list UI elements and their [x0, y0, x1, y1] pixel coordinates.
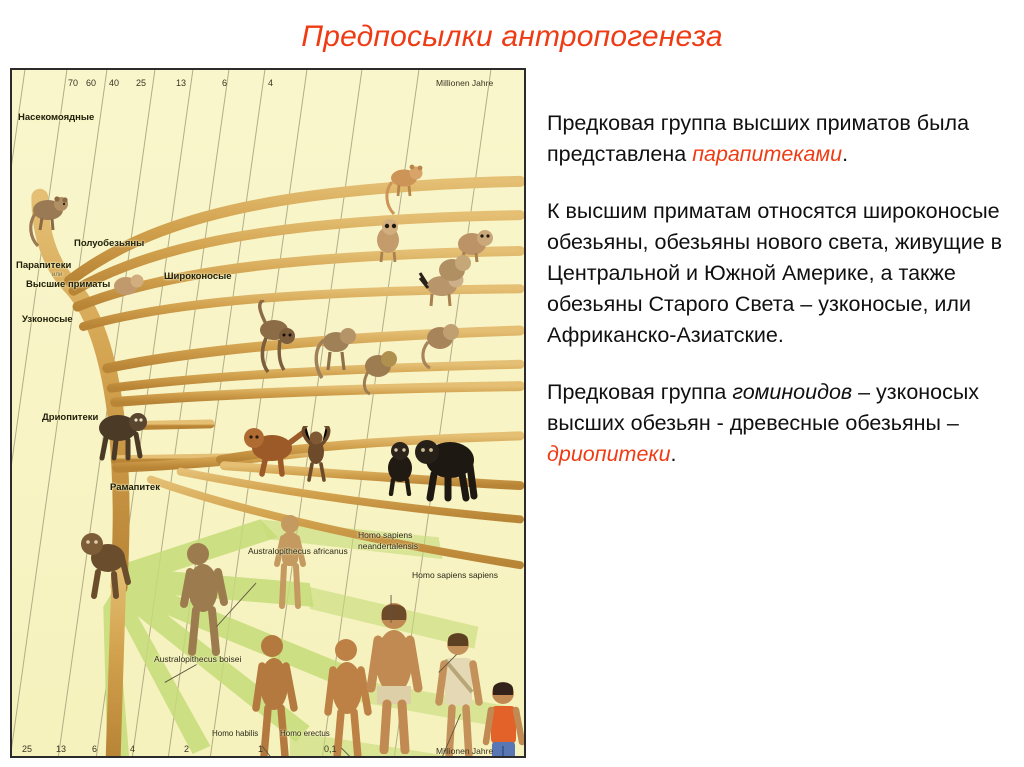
bottom-scale-0-1: 0,1 [324, 744, 337, 754]
label-platyrrhines: Широконосые [164, 271, 232, 282]
label-parapithecus: Парапитеки [16, 260, 71, 271]
label-dryopithecus: Дриопитеки [42, 412, 98, 423]
bottom-scale-25: 25 [22, 744, 32, 754]
paragraph-1: Предковая группа высших приматов была пр… [547, 108, 1013, 170]
term-hominoids: гоминоидов [732, 380, 852, 404]
top-scale-13: 13 [176, 78, 186, 88]
bottom-scale-6: 6 [92, 744, 97, 754]
bottom-scale-13: 13 [56, 744, 66, 754]
label-homo-sapiens-neandertalensis: Homo sapiens neandertalensis [358, 530, 458, 552]
label-australopithecus-boisei: Australopithecus boisei [154, 654, 264, 665]
label-homo-sapiens-sapiens-text: Homo sapiens sapiens [412, 570, 498, 580]
label-parapithecus-or: или [52, 272, 62, 278]
evolution-diagram-figure: 70 60 40 25 13 6 4 Millionen Jahre 25 13… [10, 68, 526, 758]
label-australopithecus-africanus: Australopithecus africanus [248, 546, 348, 557]
label-homo-habilis: Homo habilis [212, 729, 258, 738]
label-insectivores: Насекомоядные [18, 112, 94, 123]
paragraph-3-tail: . [671, 442, 677, 466]
paragraph-3: Предковая группа гоминоидов – узконосых … [547, 377, 1013, 470]
bottom-scale-2: 2 [184, 744, 189, 754]
paragraph-2: К высшим приматам относятся широконосые … [547, 196, 1013, 351]
explanation-text-column: Предковая группа высших приматов была пр… [547, 108, 1013, 470]
label-australopithecus-africanus-text: Australopithecus africanus [248, 546, 348, 556]
top-scale-40: 40 [109, 78, 119, 88]
bottom-scale-4: 4 [130, 744, 135, 754]
paragraph-1-tail: . [842, 142, 848, 166]
label-australopithecus-boisei-text: Australopithecus boisei [154, 654, 241, 664]
label-homo-sapiens-sapiens: Homo sapiens sapiens [412, 570, 518, 581]
top-scale-25: 25 [136, 78, 146, 88]
top-scale-60: 60 [86, 78, 96, 88]
label-prosimians: Полуобезьяны [74, 238, 144, 249]
paragraph-3-lead: Предковая группа [547, 380, 732, 404]
bottom-million-years-caption: Millionen Jahre [436, 746, 493, 756]
page-title: Предпосылки антропогенеза [0, 20, 1024, 54]
slide-root: Предпосылки антропогенеза [0, 0, 1024, 767]
term-parapithecus: парапитеками [692, 142, 842, 166]
label-ramapithecus: Рамапитек [110, 482, 160, 493]
top-million-years-caption: Millionen Jahre [436, 78, 493, 88]
top-scale-6: 6 [222, 78, 227, 88]
label-homo-sapiens-neandertalensis-text: Homo sapiens neandertalensis [358, 530, 418, 551]
label-homo-erectus: Homo erectus [280, 729, 330, 738]
bottom-scale-1: 1 [258, 744, 263, 754]
label-higher-primates: Высшие приматы [26, 279, 110, 290]
top-scale-70: 70 [68, 78, 78, 88]
label-catarrhines: Узконосые [22, 314, 73, 325]
top-scale-4: 4 [268, 78, 273, 88]
term-dryopithecus: дриопитеки [547, 442, 671, 466]
